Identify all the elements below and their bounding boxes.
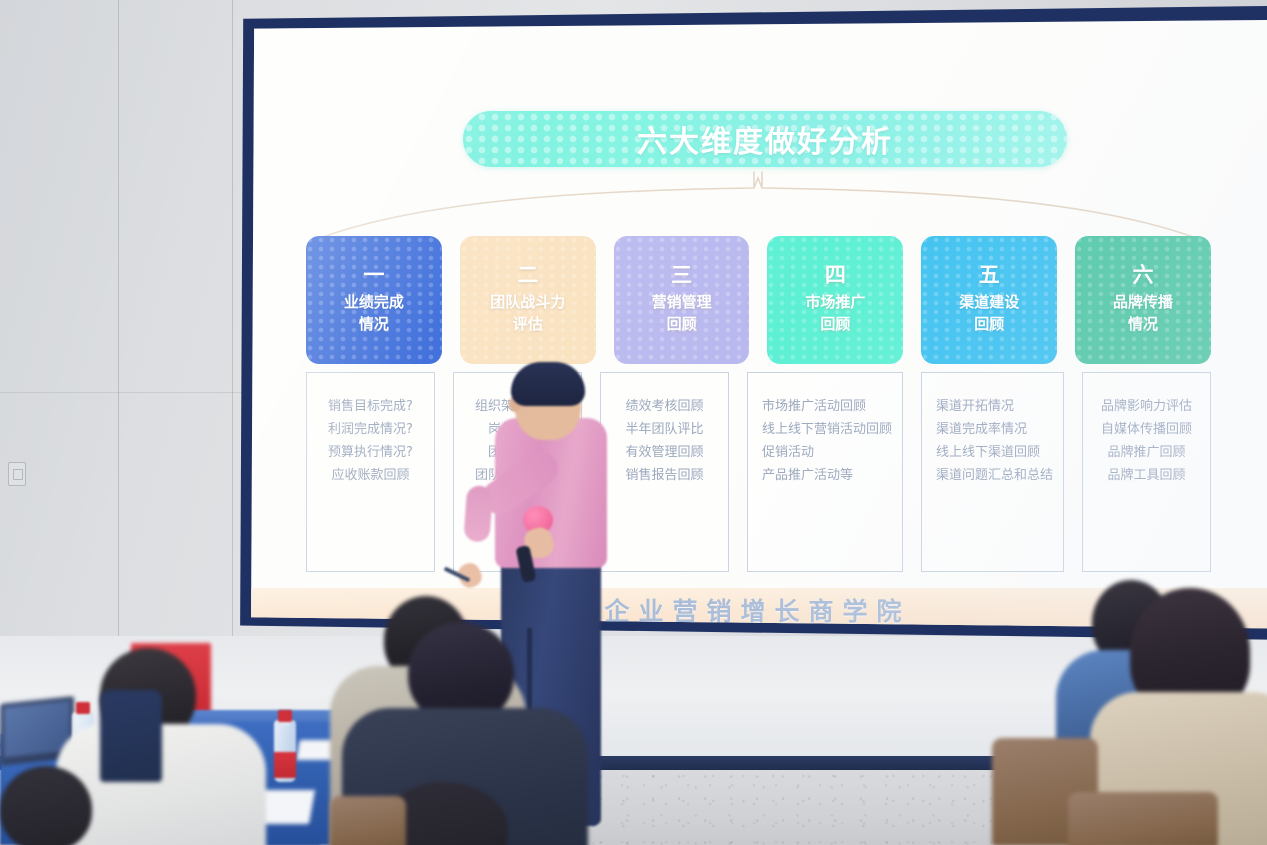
list-item: 应收账款回顾 (317, 464, 424, 487)
list-item: 预算执行情况? (317, 441, 424, 464)
card-caption: 团队战斗力 评估 (490, 292, 565, 335)
list-item: 利润完成情况? (317, 418, 424, 441)
projection-screen-surface: 六大维度做好分析 一 业绩完成 情况 (248, 20, 1267, 632)
list-item: 线上线下渠道回顾 (932, 441, 1053, 464)
card-caption-line2: 情况 (359, 315, 389, 333)
dimension-card-2[interactable]: 二 团队战斗力 评估 (460, 236, 596, 364)
list-item: 品牌影响力评估 (1093, 395, 1200, 418)
chair-back (1068, 792, 1218, 845)
list-item: 促销活动 (758, 441, 892, 464)
card-caption-line2: 评估 (513, 315, 543, 333)
detail-panel-1: 销售目标完成? 利润完成情况? 预算执行情况? 应收账款回顾 (306, 372, 435, 572)
detail-list-6: 品牌影响力评估 自媒体传播回顾 品牌推广回顾 品牌工具回顾 (1093, 395, 1200, 488)
detail-list-1: 销售目标完成? 利润完成情况? 预算执行情况? 应收账款回顾 (317, 395, 424, 488)
wall-socket (8, 462, 26, 486)
presenter-hair (511, 362, 585, 406)
conference-room-photo: 六大维度做好分析 一 业绩完成 情况 (0, 0, 1267, 845)
list-item: 线上线下营销活动回顾 (758, 418, 892, 441)
card-number: 一 (363, 265, 384, 286)
list-item: 渠道开拓情况 (932, 395, 1053, 418)
chair-back (330, 796, 406, 845)
card-caption-line2: 回顾 (667, 315, 697, 333)
dimension-card-1[interactable]: 一 业绩完成 情况 (306, 236, 442, 364)
list-item: 产品推广活动等 (758, 464, 892, 487)
list-item: 渠道问题汇总和总结 (932, 464, 1053, 487)
card-number: 五 (979, 265, 1000, 286)
presenter-arm (476, 445, 565, 520)
card-number: 二 (517, 265, 538, 286)
dimension-card-4[interactable]: 四 市场推广 回顾 (767, 236, 903, 364)
card-caption-line1: 业绩完成 (344, 293, 404, 311)
audience-member-2 (0, 766, 140, 845)
detail-panel-6: 品牌影响力评估 自媒体传播回顾 品牌推广回顾 品牌工具回顾 (1082, 372, 1211, 572)
list-item: 销售目标完成? (317, 395, 424, 418)
list-item: 市场推广活动回顾 (758, 395, 892, 418)
card-caption-line2: 情况 (1128, 315, 1158, 333)
wall-seam (118, 0, 119, 640)
list-item: 渠道完成率情况 (932, 418, 1053, 441)
card-caption: 渠道建设 回顾 (959, 292, 1019, 335)
detail-panel-5: 渠道开拓情况 渠道完成率情况 线上线下渠道回顾 渠道问题汇总和总结 (921, 372, 1064, 572)
dimension-card-6[interactable]: 六 品牌传播 情况 (1075, 236, 1211, 364)
dimension-card-row: 一 业绩完成 情况 二 团队战斗力 评估 三 (306, 236, 1211, 364)
dimension-card-5[interactable]: 五 渠道建设 回顾 (921, 236, 1057, 364)
detail-panel-row: 销售目标完成? 利润完成情况? 预算执行情况? 应收账款回顾 组织架构体系? 岗… (306, 372, 1211, 572)
card-caption-line2: 回顾 (974, 315, 1004, 333)
card-caption-line1: 市场推广 (805, 293, 865, 311)
card-caption-line1: 团队战斗力 (490, 293, 565, 311)
card-caption: 市场推广 回顾 (805, 292, 865, 335)
list-item: 品牌工具回顾 (1093, 464, 1200, 487)
card-caption: 品牌传播 情况 (1113, 292, 1173, 335)
slide-title-text: 六大维度做好分析 (637, 117, 893, 161)
card-caption-line1: 品牌传播 (1113, 293, 1173, 311)
card-caption-line1: 渠道建设 (959, 293, 1019, 311)
card-caption: 营销管理 回顾 (652, 292, 712, 335)
card-caption-line1: 营销管理 (652, 293, 712, 311)
slide-content: 六大维度做好分析 一 业绩完成 情况 (248, 20, 1267, 632)
presenter-forearm (463, 485, 493, 543)
wall-seam (232, 0, 233, 640)
detail-list-4: 市场推广活动回顾 线上线下营销活动回顾 促销活动 产品推广活动等 (758, 395, 892, 488)
slide-title-banner: 六大维度做好分析 (463, 111, 1067, 167)
detail-list-5: 渠道开拓情况 渠道完成率情况 线上线下渠道回顾 渠道问题汇总和总结 (932, 395, 1053, 488)
list-item: 自媒体传播回顾 (1093, 418, 1200, 441)
presenter-shirt (495, 418, 607, 568)
card-caption-line2: 回顾 (820, 315, 850, 333)
card-number: 三 (671, 265, 692, 286)
card-number: 六 (1133, 265, 1154, 286)
card-caption: 业绩完成 情况 (344, 292, 404, 335)
card-number: 四 (825, 265, 846, 286)
audience-head (0, 766, 92, 845)
list-item: 品牌推广回顾 (1093, 441, 1200, 464)
dimension-card-3[interactable]: 三 营销管理 回顾 (614, 236, 750, 364)
detail-panel-4: 市场推广活动回顾 线上线下营销活动回顾 促销活动 产品推广活动等 (747, 372, 903, 572)
